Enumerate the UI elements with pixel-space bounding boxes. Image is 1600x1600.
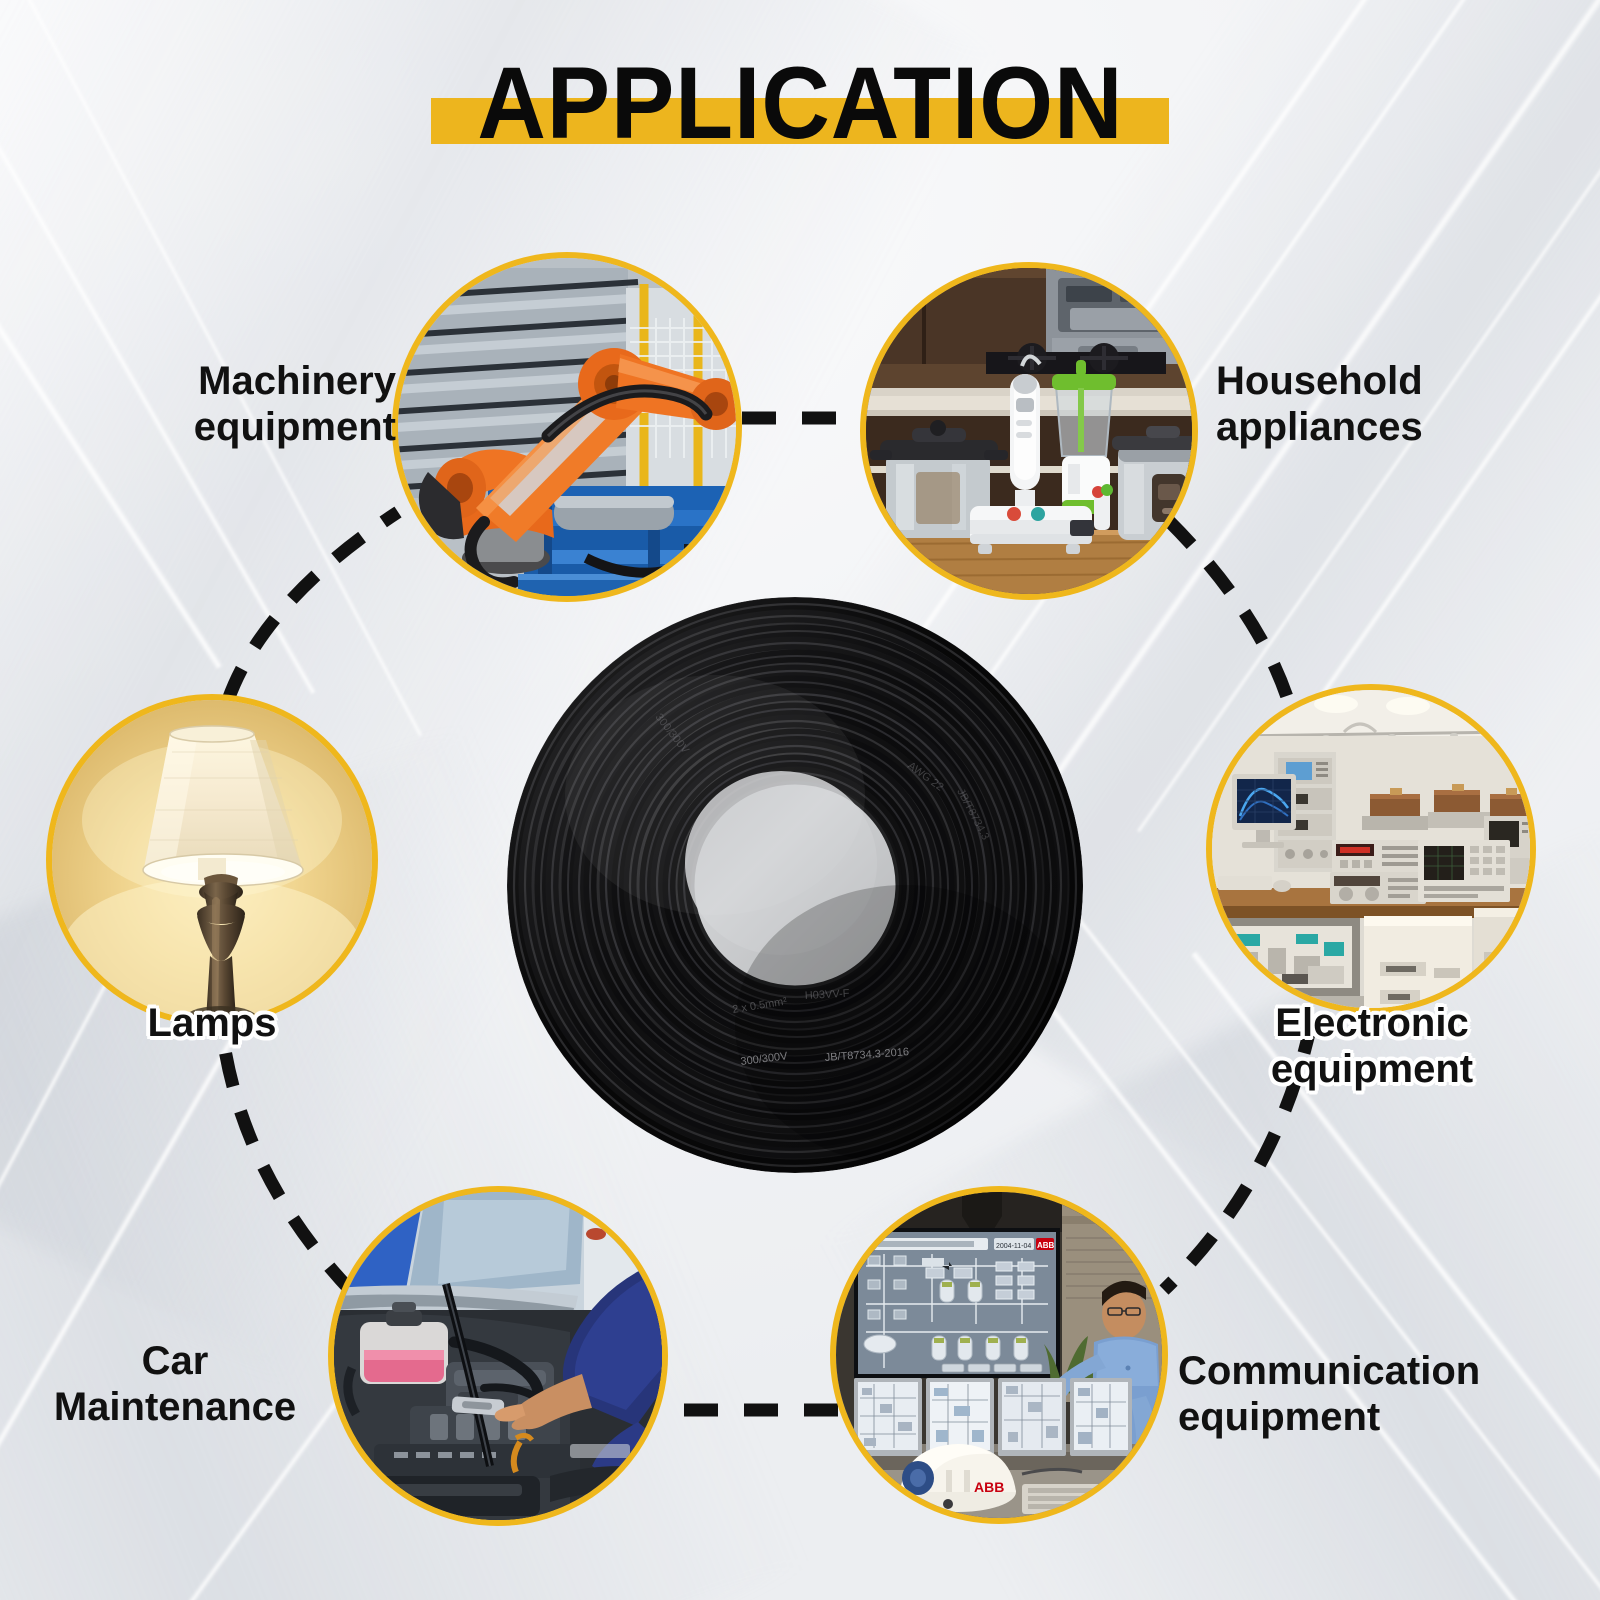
- car-maintenance-image: [334, 1192, 662, 1520]
- label-communication-equipment: Communication equipment: [1178, 1348, 1578, 1441]
- label-household-appliances: Household appliances: [1216, 358, 1556, 451]
- lamps-image: [52, 700, 372, 1020]
- node-electronic-equipment[interactable]: [1212, 690, 1530, 1008]
- node-lamps[interactable]: [52, 700, 372, 1020]
- node-machinery-equipment[interactable]: [398, 258, 736, 596]
- cable-coil-svg: 300/300V JB/T8734.3-2016 2 x 0.5mm² H03V…: [505, 595, 1085, 1175]
- svg-text:ABB: ABB: [974, 1479, 1004, 1495]
- label-car-maintenance: Car Maintenance: [22, 1338, 328, 1431]
- household-appliances-image: [866, 268, 1192, 594]
- communication-equipment-image: 2004-11-04 ABB: [836, 1192, 1162, 1518]
- page-title-block: APPLICATION: [0, 48, 1600, 158]
- svg-text:2004-11-04: 2004-11-04: [996, 1243, 1031, 1250]
- label-machinery-equipment: Machinery equipment: [96, 358, 396, 451]
- page-title: APPLICATION: [477, 48, 1123, 158]
- label-lamps: Lamps: [28, 1000, 396, 1046]
- machinery-equipment-image: [398, 258, 736, 596]
- svg-text:H03VV-F: H03VV-F: [805, 988, 850, 1002]
- svg-text:ABB: ABB: [1037, 1241, 1055, 1250]
- electronic-equipment-image: [1212, 690, 1530, 1008]
- node-car-maintenance[interactable]: [334, 1192, 662, 1520]
- node-household-appliances[interactable]: [866, 268, 1192, 594]
- cable-coil-product: 300/300V JB/T8734.3-2016 2 x 0.5mm² H03V…: [505, 595, 1085, 1175]
- label-electronic-equipment: Electronic equipment: [1200, 1000, 1544, 1093]
- node-communication-equipment[interactable]: 2004-11-04 ABB: [836, 1192, 1162, 1518]
